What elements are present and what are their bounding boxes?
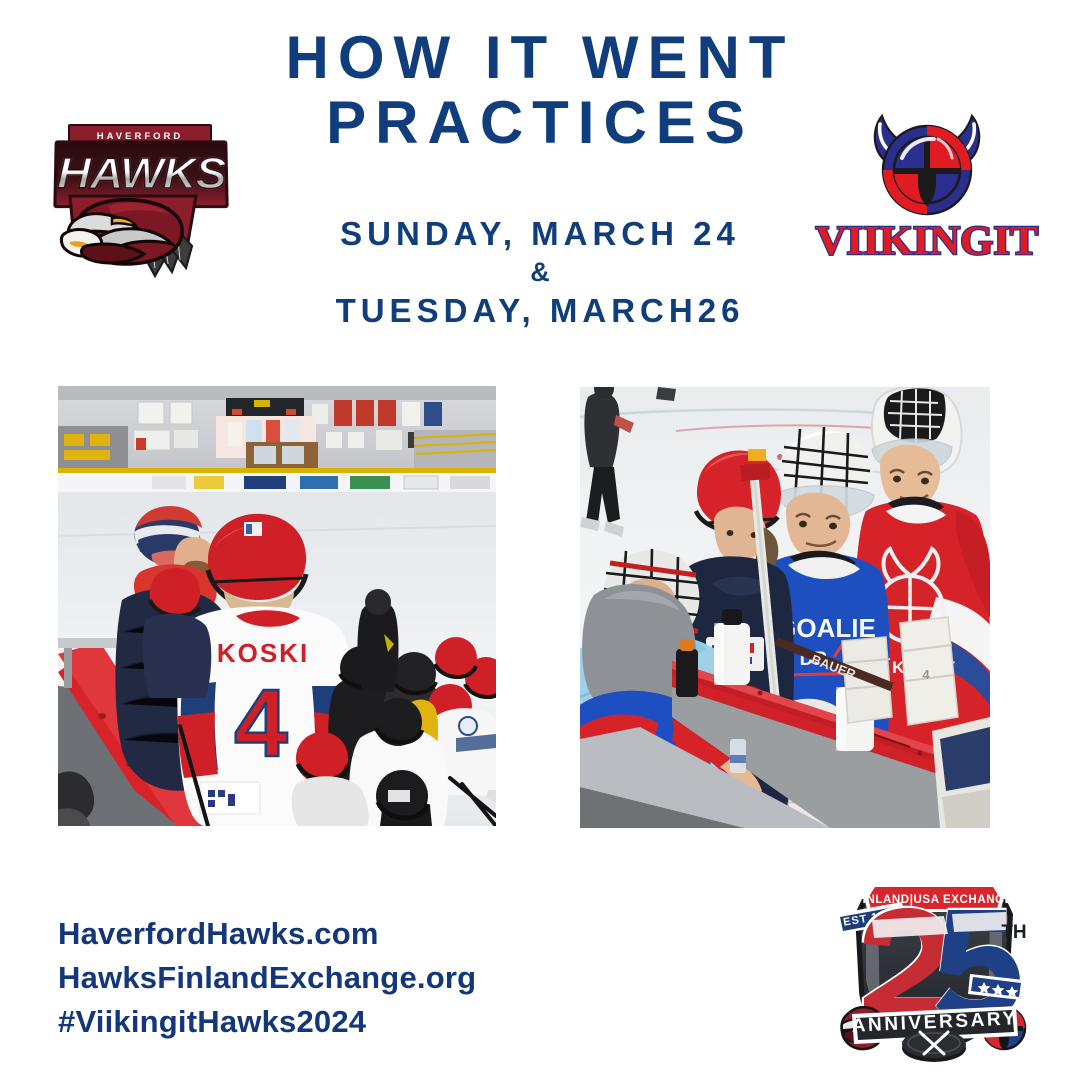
contact-links: HaverfordHawks.com HawksFinlandExchange.…	[58, 912, 476, 1044]
anniversary-ordinal-text: TH	[1001, 922, 1026, 943]
viikingit-wordmark: VIIKINGIT	[814, 216, 1041, 264]
link-hawks-finland-exchange[interactable]: HawksFinlandExchange.org	[58, 956, 476, 1000]
date-line-2: TUESDAY, MARCH26	[150, 290, 930, 332]
svg-text:KOSKI: KOSKI	[217, 638, 309, 668]
svg-text:4: 4	[922, 667, 930, 682]
hawk-head-icon	[56, 190, 206, 278]
title-line-2: PRACTICES	[150, 91, 930, 156]
photo-practice-team-huddle: KOSKI 4	[58, 386, 496, 826]
viikingit-logo: VIIKINGIT	[818, 112, 1036, 277]
title-line-1: HOW IT WENT	[150, 26, 930, 91]
page-title: HOW IT WENT PRACTICES	[150, 26, 930, 156]
anniversary-top-banner-text: FINLAND|USA EXCHANGE	[855, 894, 1013, 906]
svg-text:4: 4	[234, 670, 287, 777]
link-haverford-hawks[interactable]: HaverfordHawks.com	[58, 912, 476, 956]
viking-helmet-icon	[866, 112, 988, 220]
hashtag-viikingit-hawks-2024[interactable]: #ViikingitHawks2024	[58, 1000, 476, 1044]
photo-goalies-at-bench: VIIKINGIT	[580, 387, 990, 828]
haverford-hawks-logo: HAVERFORD HAWKS	[46, 118, 231, 283]
anniversary-badge: FINLAND|USA EXCHANGE EST 1999 TH	[828, 872, 1040, 1068]
